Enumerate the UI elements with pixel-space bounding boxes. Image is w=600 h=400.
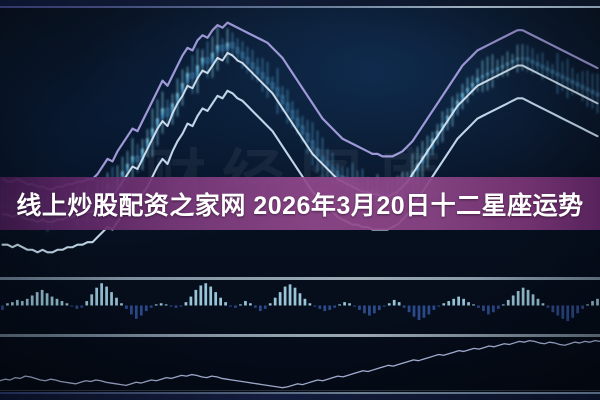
panel-separator-bottom: [0, 390, 600, 391]
panel-separator-lower: [0, 334, 600, 337]
bottom-highlight-line: [0, 392, 600, 394]
panel-separator-upper: [0, 277, 600, 280]
banner-title-text: 线上炒股配资之家网 2026年3月20日十二星座运势: [16, 186, 583, 222]
bottom-edge-band: [0, 394, 600, 400]
oscillator-line: [0, 341, 600, 388]
title-banner: 线上炒股配资之家网 2026年3月20日十二星座运势: [0, 177, 600, 230]
stock-chart-banner-image: 财经图库 线上炒股配资之家网 2026年3月20日十二星座运势: [0, 0, 600, 400]
top-highlight-line: [0, 6, 600, 8]
